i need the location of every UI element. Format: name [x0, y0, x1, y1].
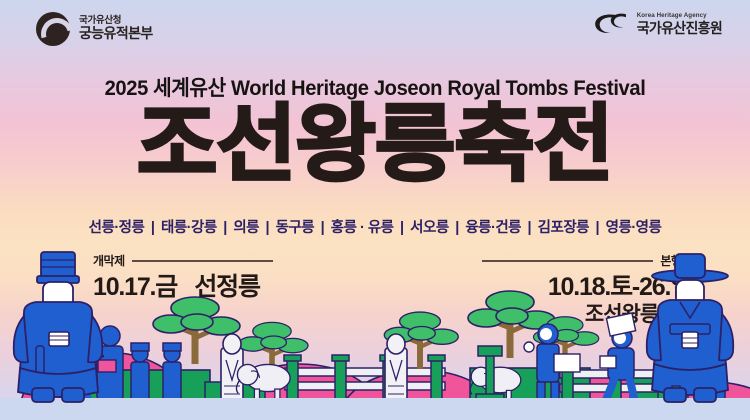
taeguk-icon [36, 12, 70, 46]
stone-guardian-statue-2 [385, 334, 407, 404]
logo-cultural-heritage-administration: 국가유산청 궁능유적본부 [36, 12, 153, 46]
tomb-separator: | [589, 220, 606, 236]
logo-right-agency-english: Korea Heritage Agency [637, 12, 722, 19]
ground-band [0, 398, 750, 420]
logo-right-agency-large: 국가유산진흥원 [637, 20, 722, 36]
tomb-separator: | [314, 220, 331, 236]
tomb-separator: | [259, 220, 276, 236]
tomb-separator: | [217, 220, 234, 236]
festival-poster: 국가유산청 궁능유적본부 Korea Heritage Agency 국가유산진… [0, 0, 750, 420]
tomb-site-name: 융릉·건릉 [465, 220, 521, 236]
logo-left-agency-large: 궁능유적본부 [79, 26, 153, 42]
tomb-site-name: 서오릉 [410, 220, 449, 236]
wave-swirl-icon [593, 11, 629, 37]
tomb-site-name: 홍릉 · 유릉 [331, 220, 394, 236]
tomb-site-name: 의릉 [233, 220, 259, 236]
tomb-site-name: 김포장릉 [538, 220, 589, 236]
tomb-site-list: 선릉·정릉 | 태릉·강릉 | 의릉 | 동구릉 | 홍릉 · 유릉 | 서오릉… [0, 216, 750, 237]
logo-korea-heritage-agency: Korea Heritage Agency 국가유산진흥원 [593, 11, 722, 37]
tomb-site-name: 태릉·강릉 [161, 220, 217, 236]
tomb-separator: | [394, 220, 411, 236]
tomb-separator: | [521, 220, 538, 236]
tomb-site-name: 선릉·정릉 [89, 220, 145, 236]
scholar-with-gat-hat-figure [647, 254, 734, 402]
tomb-separator: | [449, 220, 466, 236]
festival-main-title: 조선왕릉축전 [0, 100, 750, 188]
royal-tomb-illustration [0, 250, 750, 420]
tomb-site-name: 영릉·영릉 [606, 220, 662, 236]
tomb-site-name: 동구릉 [276, 220, 315, 236]
joseon-official-statue-figure [14, 252, 103, 402]
tomb-separator: | [144, 220, 161, 236]
